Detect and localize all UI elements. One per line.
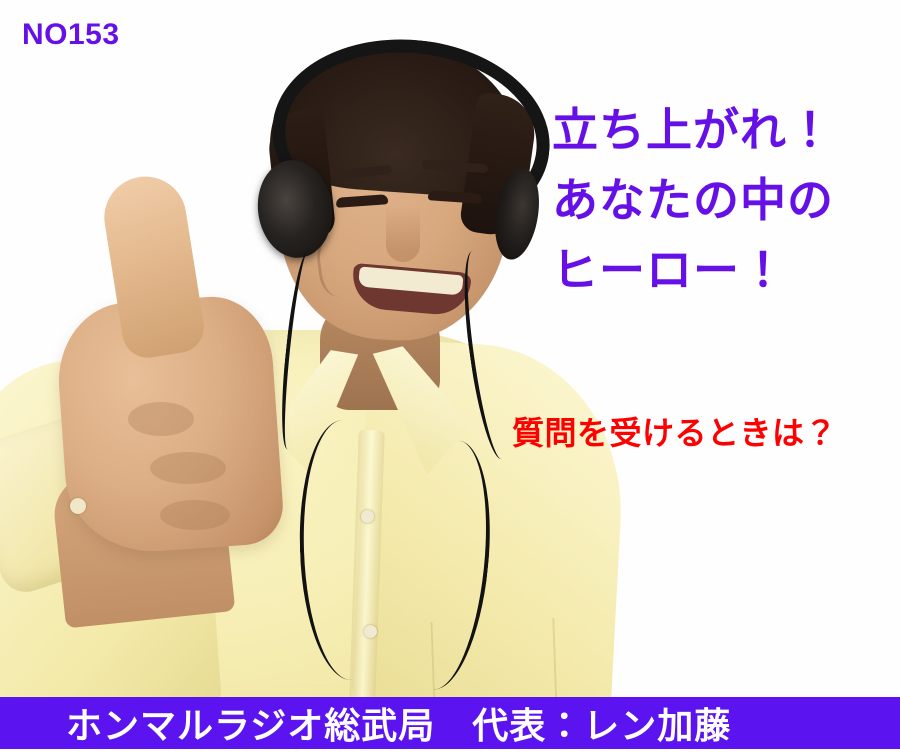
footer-credit-text: ホンマルラジオ総武局 代表：レン加藤: [66, 697, 731, 749]
cuff-button: [70, 498, 86, 514]
knuckle: [128, 402, 194, 436]
headline-line-1: 立ち上がれ！: [552, 96, 834, 166]
headline-line-3: ヒーロー！: [552, 236, 834, 306]
knuckle: [150, 452, 226, 484]
footer-bottom-strip: [0, 749, 900, 754]
subheadline-question: 質問を受けるときは？: [512, 408, 837, 454]
promo-banner: NO153 立ち上がれ！ あなたの中の ヒーロー！ 質問を受けるときは？ ホンマ…: [0, 0, 900, 754]
headline: 立ち上がれ！ あなたの中の ヒーロー！: [552, 96, 834, 306]
teeth: [358, 266, 463, 295]
headline-line-2: あなたの中の: [552, 166, 834, 236]
episode-number-badge: NO153: [22, 18, 120, 52]
knuckle: [160, 500, 230, 530]
footer-bar: ホンマルラジオ総武局 代表：レン加藤: [0, 697, 900, 749]
